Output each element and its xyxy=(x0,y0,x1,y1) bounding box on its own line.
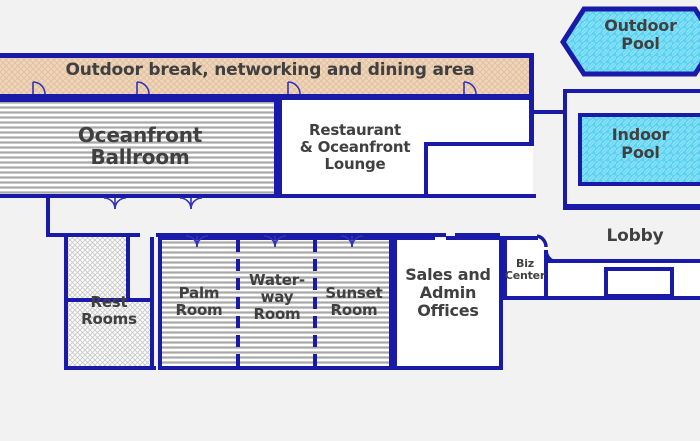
outdoor-break-area-shape xyxy=(0,53,534,99)
floor-plan-svg xyxy=(0,0,700,441)
restaurant-lounge-shape xyxy=(278,96,536,198)
oceanfront-ballroom-shape xyxy=(0,98,278,198)
lobby-shape xyxy=(548,263,700,300)
outdoor-pool-shape xyxy=(563,9,700,74)
meeting-rooms-shape xyxy=(158,236,393,370)
sales-admin-shape xyxy=(393,236,503,370)
pool-room-bottom-wall xyxy=(565,204,700,208)
floor-plan: Outdoor break, networking and dining are… xyxy=(0,0,700,441)
rest-rooms-shape xyxy=(64,237,156,370)
indoor-pool-room-shape xyxy=(565,91,700,208)
